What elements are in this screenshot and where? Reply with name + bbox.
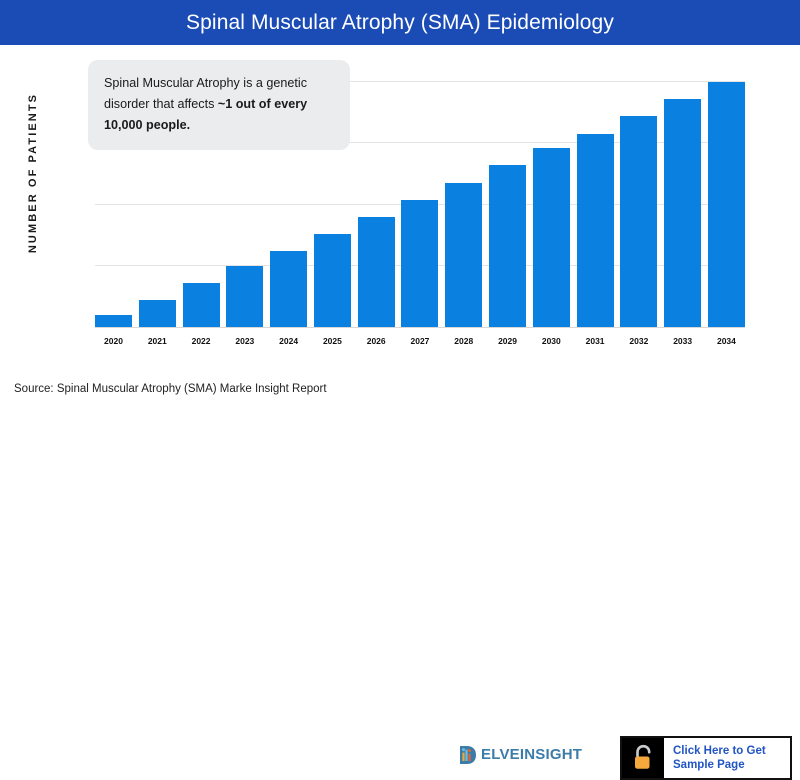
bar-column (577, 65, 614, 327)
bar-2026 (358, 217, 395, 327)
bar-2020 (95, 315, 132, 327)
x-tick-2020: 2020 (95, 336, 132, 346)
bar-2032 (620, 116, 657, 327)
x-tick-2031: 2031 (577, 336, 614, 346)
x-axis-ticks: 2020202120222023202420252026202720282029… (95, 332, 745, 350)
y-axis-label: NUMBER OF PATIENTS (27, 78, 39, 268)
x-tick-2030: 2030 (533, 336, 570, 346)
x-tick-2024: 2024 (270, 336, 307, 346)
x-tick-2021: 2021 (139, 336, 176, 346)
x-tick-2026: 2026 (358, 336, 395, 346)
bar-2021 (139, 300, 176, 327)
x-tick-2034: 2034 (708, 336, 745, 346)
sample-page-cta-button[interactable]: Click Here to Get Sample Page (620, 736, 792, 780)
x-tick-2028: 2028 (445, 336, 482, 346)
bar-column (358, 65, 395, 327)
bar-2028 (445, 183, 482, 327)
bar-column (445, 65, 482, 327)
x-tick-2025: 2025 (314, 336, 351, 346)
logo-bars-icon (458, 744, 480, 766)
page-title: Spinal Muscular Atrophy (SMA) Epidemiolo… (186, 11, 614, 35)
x-tick-2033: 2033 (664, 336, 701, 346)
bar-column (620, 65, 657, 327)
callout-box: Spinal Muscular Atrophy is a genetic dis… (88, 60, 350, 150)
bar-2027 (401, 200, 438, 327)
bar-column (489, 65, 526, 327)
bar-2023 (226, 266, 263, 327)
page-footer: Source: Spinal Muscular Atrophy (SMA) Ma… (0, 365, 800, 420)
bar-2034 (708, 82, 745, 327)
axis-baseline (95, 327, 745, 328)
bar-column (708, 65, 745, 327)
cta-label: Click Here to Get Sample Page (664, 744, 790, 772)
page-header: Spinal Muscular Atrophy (SMA) Epidemiolo… (0, 0, 800, 45)
x-tick-2027: 2027 (401, 336, 438, 346)
bar-2024 (270, 251, 307, 327)
x-tick-2022: 2022 (183, 336, 220, 346)
bar-2025 (314, 234, 351, 327)
callout-text: Spinal Muscular Atrophy is a genetic dis… (104, 73, 334, 136)
x-tick-2032: 2032 (620, 336, 657, 346)
bar-2029 (489, 165, 526, 327)
bar-2022 (183, 283, 220, 327)
x-tick-2023: 2023 (226, 336, 263, 346)
cta-label-line2: Sample Page (673, 758, 790, 772)
bar-2031 (577, 134, 614, 327)
chart-region: NUMBER OF PATIENTS 202020212022202320242… (0, 45, 800, 365)
source-note: Source: Spinal Muscular Atrophy (SMA) Ma… (14, 383, 327, 395)
logo-wordmark: ELVEINSIGHT (481, 744, 582, 766)
delveinsight-logo: ELVEINSIGHT (458, 743, 582, 767)
bar-2033 (664, 99, 701, 327)
bar-column (533, 65, 570, 327)
cta-label-line1: Click Here to Get (673, 744, 790, 758)
bar-column (401, 65, 438, 327)
x-tick-2029: 2029 (489, 336, 526, 346)
bar-2030 (533, 148, 570, 327)
padlock-icon (622, 738, 664, 778)
bar-column (664, 65, 701, 327)
